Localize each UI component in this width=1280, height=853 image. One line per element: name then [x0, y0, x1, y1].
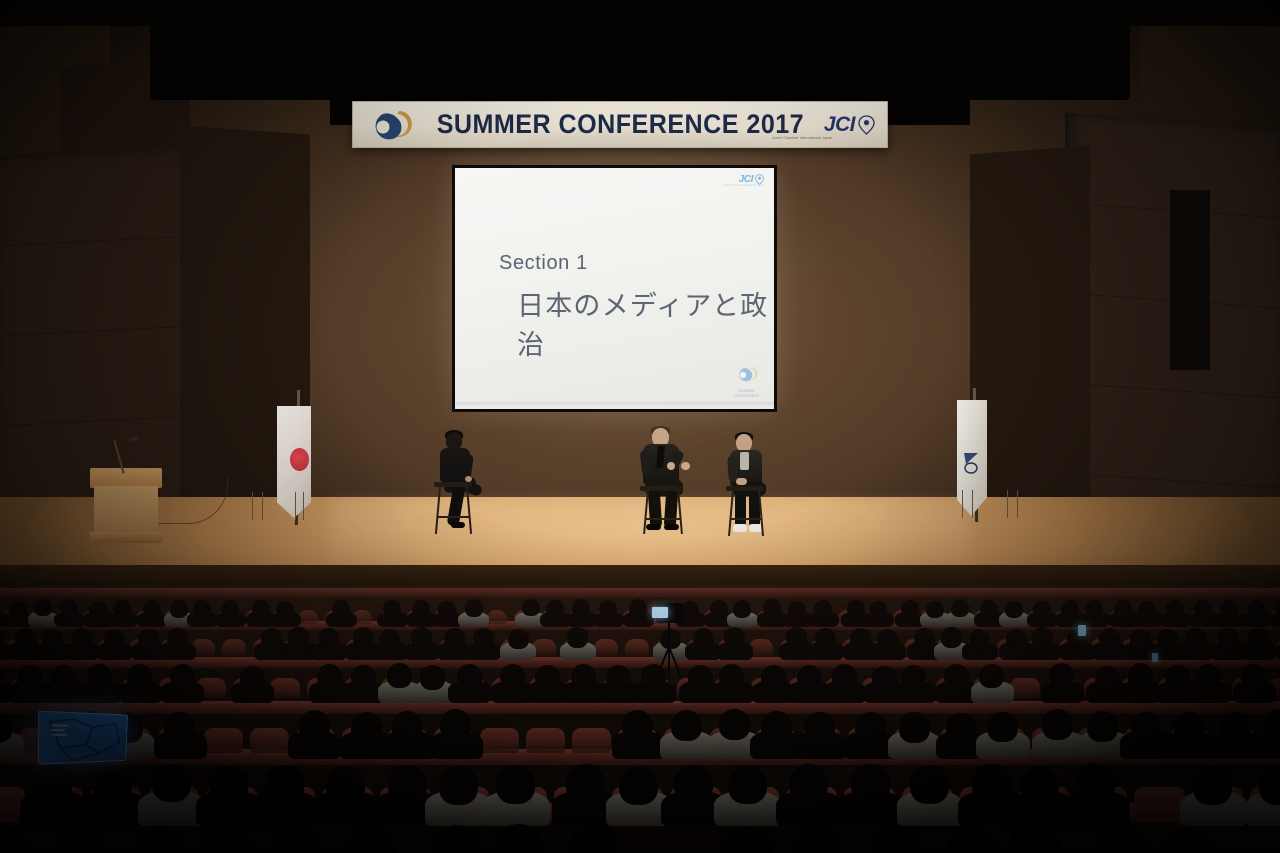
audience-member-head	[1193, 766, 1232, 805]
audience-member-head	[1033, 601, 1051, 618]
audience-seat	[250, 728, 289, 754]
audience-member-head	[387, 663, 412, 687]
audience-member-head	[901, 600, 919, 617]
stool-left-rung	[437, 516, 469, 518]
audience-member-head	[599, 600, 617, 617]
flag-japan-stand-inner	[262, 492, 296, 520]
audience-member-head	[240, 666, 265, 690]
audience-member-head	[299, 710, 330, 741]
audience-member-head	[719, 664, 744, 688]
audience-seat	[480, 728, 519, 754]
audience-member-head	[326, 766, 365, 805]
audience-member-head	[1049, 663, 1074, 687]
audience-member-head	[791, 824, 841, 853]
audience-member-head	[1010, 823, 1060, 853]
conference-banner: SUMMER CONFERENCE 2017 JCI Junior Chambe…	[352, 101, 888, 148]
audience-member-head	[671, 710, 702, 741]
audience-member-head	[143, 600, 161, 617]
audience-seat	[1010, 678, 1040, 698]
audience-member-head	[388, 765, 427, 804]
audience-member-head	[869, 601, 887, 618]
audience-member-head	[317, 664, 342, 688]
audience-member-head	[1196, 664, 1221, 688]
audience-member-head	[535, 665, 560, 689]
audience-seat	[594, 639, 618, 656]
video-camera-tripod	[648, 603, 692, 681]
audience-member-head	[1095, 666, 1120, 690]
audience-member-head	[1006, 629, 1027, 649]
audience-member-head	[465, 599, 483, 616]
audience-member-head	[1042, 709, 1073, 740]
audience-member-head	[318, 628, 339, 648]
audience-member-head	[1194, 600, 1212, 617]
slide-swirl-icon	[734, 364, 760, 384]
jci-pin-icon	[858, 115, 875, 135]
audience-member-head	[0, 826, 30, 853]
audience-member-head	[17, 665, 42, 689]
wall-panel-right-slot	[1170, 190, 1210, 370]
audience-member-head	[566, 764, 605, 803]
audience-member-head	[271, 827, 321, 853]
audience-member-head	[1085, 600, 1103, 617]
audience-member-head	[55, 826, 105, 853]
audience-member-head	[345, 827, 395, 853]
audience-member-head	[93, 765, 132, 804]
audience-member-head	[522, 599, 540, 616]
audience-member-head	[392, 711, 423, 742]
audience-member-head	[855, 712, 886, 743]
audience-seat	[572, 728, 611, 754]
audience-member-head	[1005, 601, 1023, 618]
jci-wordmark: JCI	[824, 113, 855, 137]
audience-member-head	[804, 712, 835, 743]
audience-member-head	[546, 600, 564, 617]
audience-seat	[270, 678, 300, 698]
projection-screen: JCI Junior Chamber International Japan S…	[452, 165, 777, 412]
audience-member-head	[60, 599, 78, 616]
audience-member-head	[1220, 600, 1238, 617]
stool-center-rung	[645, 518, 680, 520]
audience-member-head	[980, 600, 998, 617]
conference-photo-scene: SUMMER CONFERENCE 2017 JCI Junior Chambe…	[0, 0, 1280, 853]
audience-member-head	[719, 709, 750, 740]
audience-member-head	[500, 664, 525, 688]
audience-member-head	[164, 712, 195, 743]
audience-member-head	[127, 664, 152, 688]
audience-seat	[298, 610, 318, 624]
audience-member-head	[494, 824, 544, 853]
audience-member-head	[710, 600, 728, 617]
slide-heading: 日本のメディアと政治	[517, 284, 774, 362]
audience-member-head	[34, 599, 52, 616]
audience-member-head	[288, 627, 309, 647]
audience-member-head	[1157, 629, 1178, 649]
audience-member-head	[439, 766, 478, 805]
slide-footer-logo: SUMMER CONFERENCE	[734, 364, 760, 399]
audience-member-head	[606, 665, 631, 689]
audience-member-head	[379, 629, 400, 649]
audience-member-head	[193, 600, 211, 617]
audience-member-head	[619, 767, 658, 806]
audience-member-head	[51, 665, 76, 689]
audience-member-head	[152, 764, 191, 803]
audience-member-head	[693, 628, 714, 648]
slide-jci-logo-icon: JCI Junior Chamber International Japan	[739, 174, 764, 185]
audience-member-head	[89, 601, 107, 618]
audience-member-head	[761, 665, 786, 689]
audience-member-head	[1087, 711, 1118, 742]
audience-member-head	[1020, 766, 1059, 805]
audience-member-head	[457, 664, 482, 688]
laptop[interactable]	[40, 713, 136, 767]
audience-member-head	[508, 629, 529, 649]
audience-member-head	[351, 665, 376, 689]
audience-member-head	[1138, 601, 1156, 618]
audience-member-head	[1114, 600, 1132, 617]
audience-member-head	[1259, 767, 1280, 806]
audience-member-head	[850, 628, 871, 648]
podium	[90, 468, 162, 546]
audience-member-head	[170, 600, 188, 617]
audience-seat	[204, 728, 243, 754]
audience-member-head	[674, 765, 713, 804]
audience-member-head	[1061, 600, 1079, 617]
audience-member-head	[979, 664, 1004, 688]
audience-member-head	[261, 628, 282, 648]
audience-member-head	[899, 712, 930, 743]
audience-member-head	[9, 601, 27, 618]
audience-member-head	[814, 600, 832, 617]
audience-member-head	[383, 600, 401, 617]
audience-seat	[487, 610, 507, 624]
audience-member-head	[33, 765, 72, 804]
audience-member-head	[910, 765, 949, 804]
audience-member-head	[265, 765, 304, 804]
audience-member-head	[1097, 825, 1147, 853]
audience-member-head	[728, 766, 767, 805]
audience-member-head	[1032, 627, 1053, 647]
audience-member-head	[797, 665, 822, 689]
laptop-screen-content	[44, 716, 124, 764]
jci-logo-icon: JCI Junior Chamber International Japan	[824, 113, 875, 137]
audience-member-head	[353, 627, 374, 647]
slide-bottom-edge	[455, 402, 774, 406]
audience-seat	[625, 639, 649, 656]
audience-area	[0, 585, 1280, 853]
audience-member-head	[877, 629, 898, 649]
audience-member-head	[411, 627, 432, 647]
audience-member-head	[951, 599, 969, 616]
audience-member-head	[763, 599, 781, 616]
audience-member-head	[622, 710, 653, 741]
audience-member-head	[941, 627, 962, 647]
audience-member-head	[788, 601, 806, 618]
slide-section-label: Section 1	[499, 252, 588, 275]
audience-member-head	[87, 664, 112, 688]
audience-member-head	[914, 628, 935, 648]
audience-member-head	[1218, 628, 1239, 648]
audience-member-head	[567, 627, 588, 647]
audience-member-head	[972, 764, 1011, 803]
audience-member-head	[432, 825, 482, 853]
audience-member-head	[572, 599, 590, 616]
audience-member-head	[473, 628, 494, 648]
audience-member-head	[113, 600, 131, 617]
audience-member-head	[1166, 600, 1184, 617]
audience-member-head	[1241, 664, 1266, 688]
audience-member-head	[571, 664, 596, 688]
audience-member-head	[1130, 629, 1151, 649]
audience-member-head	[851, 764, 890, 803]
audience-member-head	[438, 601, 456, 618]
audience-member-head	[170, 664, 195, 688]
audience-seat	[222, 639, 246, 656]
audience-member-head	[200, 823, 250, 853]
slide-jci-subtitle: Junior Chamber International Japan	[723, 184, 764, 187]
audience-member-head	[1276, 599, 1280, 616]
audience-member-head	[440, 709, 471, 740]
audience-member-head	[568, 824, 618, 853]
audience-member-head	[901, 665, 926, 689]
proscenium-header	[150, 0, 1130, 100]
audience-member-head	[420, 665, 445, 689]
audience-member-head	[926, 601, 944, 618]
phone-screen-glow	[1078, 625, 1086, 636]
audience-member-head	[444, 628, 465, 648]
audience-member-head	[969, 629, 990, 649]
audience-member-head	[209, 767, 248, 806]
audience-member-head	[1099, 628, 1120, 648]
audience-member-head	[332, 600, 350, 617]
audience-member-head	[1128, 663, 1153, 687]
audience-member-head	[1247, 600, 1265, 617]
audience-member-head	[944, 664, 969, 688]
audience-member-head	[276, 601, 294, 618]
audience-member-head	[629, 599, 647, 616]
flag-jci-emblem-icon	[962, 450, 981, 474]
audience-member-head	[987, 712, 1018, 743]
audience-member-head	[1076, 763, 1115, 802]
audience-member-head	[871, 828, 921, 853]
audience-member-head	[138, 629, 159, 649]
audience-member-head	[496, 765, 535, 804]
audience-member-head	[1165, 665, 1190, 689]
audience-member-head	[722, 826, 772, 853]
audience-back-rail	[0, 588, 1280, 597]
audience-member-head	[252, 600, 270, 617]
audience-member-head	[1219, 712, 1250, 743]
slide-footer-line2: CONFERENCE	[734, 394, 760, 399]
audience-member-head	[946, 713, 977, 744]
audience-member-head	[71, 628, 92, 648]
audience-member-head	[1248, 628, 1269, 648]
audience-member-head	[221, 600, 239, 617]
audience-member-head	[15, 628, 36, 648]
audience-member-head	[351, 712, 382, 743]
audience-member-head	[1185, 628, 1206, 648]
audience-member-head	[1174, 712, 1205, 743]
audience-seat	[1134, 787, 1185, 819]
audience-member-head	[789, 764, 828, 803]
audience-member-head	[761, 711, 792, 742]
flag-japan-sun-disc	[290, 448, 309, 471]
laptop-screen	[38, 711, 128, 765]
banner-title: SUMMER CONFERENCE 2017	[431, 109, 809, 140]
audience-member-head	[815, 628, 836, 648]
flag-jci-stand-inner	[972, 490, 1008, 518]
audience-member-head	[847, 600, 865, 617]
audience-member-head	[167, 628, 188, 648]
audience-member-head	[946, 828, 996, 853]
audience-seat	[526, 728, 565, 754]
audience-member-head	[832, 664, 857, 688]
audience-member-head	[135, 826, 185, 853]
summer-conference-swirl-icon	[365, 105, 417, 145]
presentation-slide: JCI Junior Chamber International Japan S…	[455, 168, 774, 409]
phone-screen-glow-2	[1152, 653, 1158, 662]
audience-member-head	[104, 629, 125, 649]
audience-member-head	[786, 627, 807, 647]
stool-right-rung	[730, 518, 761, 520]
audience-member-head	[1131, 712, 1162, 743]
jci-subtitle: Junior Chamber International Japan	[772, 136, 833, 140]
audience-member-head	[724, 627, 745, 647]
audience-member-head	[733, 600, 751, 617]
audience-member-head	[41, 629, 62, 649]
audience-member-head	[412, 600, 430, 617]
audience-member-head	[1162, 828, 1212, 853]
